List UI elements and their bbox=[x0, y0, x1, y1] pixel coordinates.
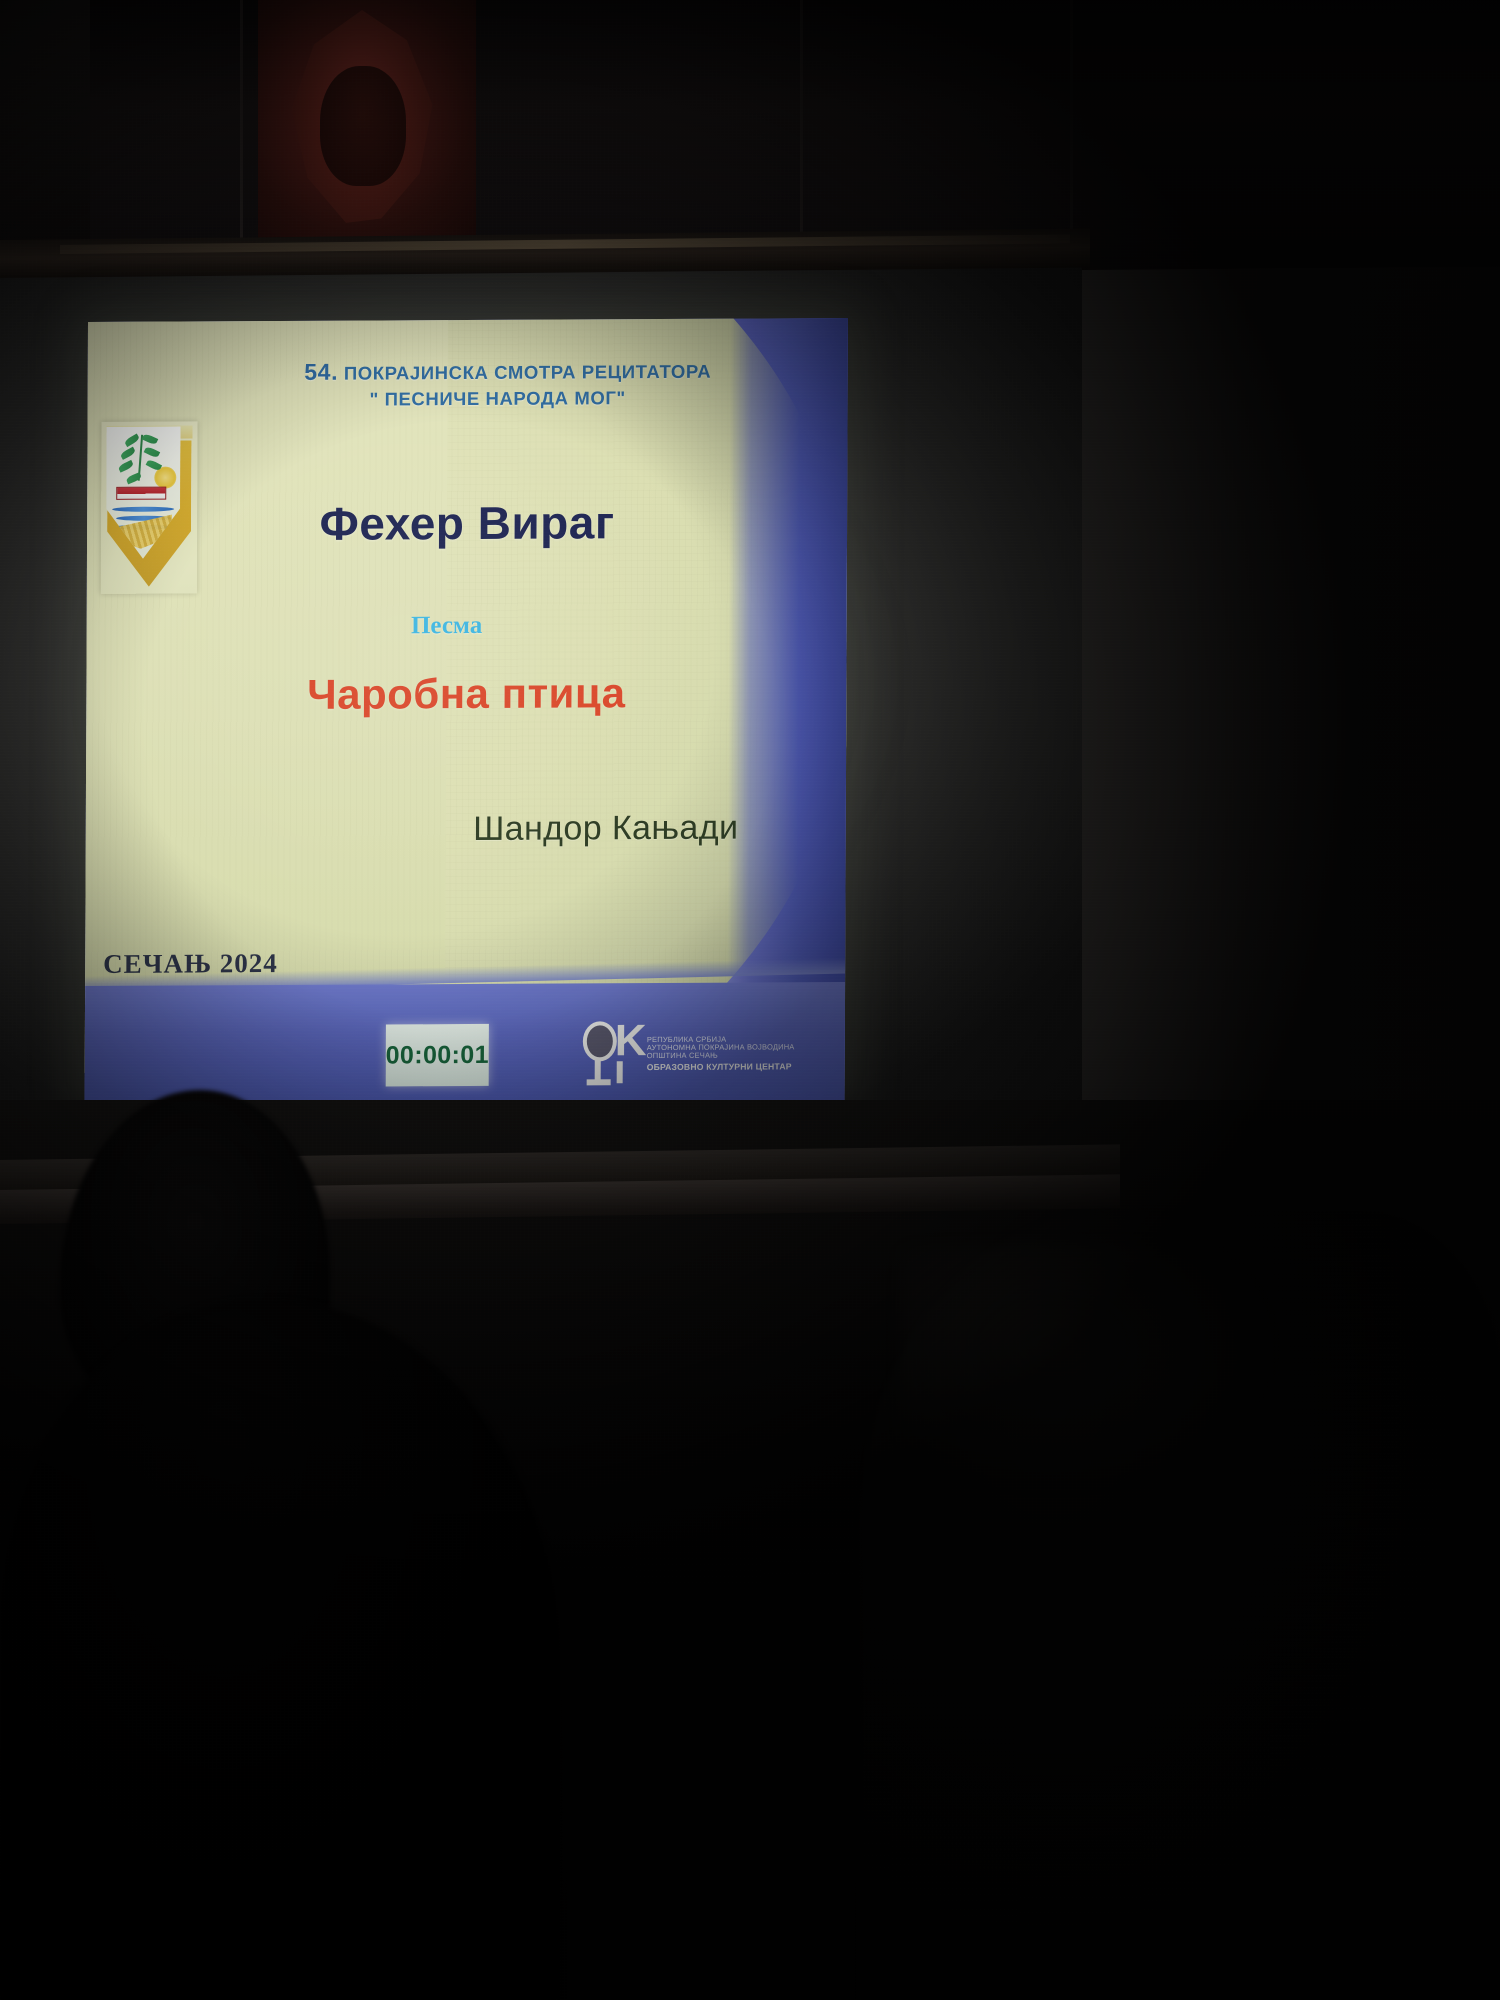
chair-highlight bbox=[900, 1245, 1280, 1495]
stopwatch-value: 00:00:01 bbox=[386, 1040, 489, 1070]
wall-panel-left bbox=[0, 0, 90, 260]
slide-parchment-left bbox=[85, 320, 448, 982]
leaf-icon bbox=[118, 460, 135, 473]
coat-of-arms-icon: ОПШТИНА СЕЧАЊ bbox=[101, 421, 198, 594]
slide-header-line-1: 54. ПОКРАЈИНСКА СМОТРА РЕЦИТАТОРА bbox=[198, 356, 818, 386]
wall-carving-decor bbox=[258, 0, 476, 238]
okc-mark-icon: K bbox=[581, 1017, 643, 1087]
letter-o-icon bbox=[583, 1021, 617, 1061]
section-label-poem: Песма bbox=[237, 611, 657, 641]
leaf-icon bbox=[142, 433, 159, 446]
header-title: ПОКРАЈИНСКА СМОТРА РЕЦИТАТОРА bbox=[344, 361, 711, 384]
logo-line-3: ОПШТИНА СЕЧАЊ bbox=[647, 1052, 827, 1061]
wall-seam bbox=[800, 0, 803, 250]
auditorium-scene: ОПШТИНА СЕЧАЊ bbox=[0, 0, 1500, 2000]
poem-author: Шандор Кањади bbox=[386, 808, 826, 849]
leaf-icon bbox=[124, 433, 140, 447]
letter-o-base bbox=[587, 1079, 611, 1085]
logo-line-4: ОБРАЗОВНО КУЛТУРНИ ЦЕНТАР bbox=[647, 1062, 827, 1073]
edition-number: 54. bbox=[304, 359, 338, 385]
poem-title: Чаробна птица bbox=[206, 669, 726, 720]
reciter-name: Фехер Вираг bbox=[207, 495, 727, 552]
okc-logo: K РЕПУБЛИКА СРБИЈА АУТОНОМНА ПОКРАЈИНА В… bbox=[581, 1012, 827, 1091]
wall-seam bbox=[240, 0, 243, 250]
carving-shadow bbox=[320, 66, 406, 186]
water-wave bbox=[112, 507, 174, 512]
stopwatch-display: 00:00:01 bbox=[386, 1024, 489, 1087]
leaf-icon bbox=[144, 446, 161, 459]
slide-canvas: ОПШТИНА СЕЧАЊ bbox=[85, 318, 848, 1104]
slide-header-line-2: " ПЕСНИЧЕ НАРОДА МОГ" bbox=[198, 386, 798, 411]
red-white-band bbox=[116, 487, 166, 500]
letter-k-stem bbox=[617, 1061, 623, 1083]
slide-date: СЕЧАЊ 2024 bbox=[103, 948, 278, 980]
okc-logo-text: РЕПУБЛИКА СРБИЈА АУТОНОМНА ПОКРАЈИНА ВОЈ… bbox=[647, 1031, 827, 1073]
projected-slide: ОПШТИНА СЕЧАЊ bbox=[85, 318, 848, 1104]
wall-seam bbox=[1070, 0, 1073, 250]
leaf-icon bbox=[120, 447, 137, 460]
leaf-icon bbox=[126, 472, 143, 484]
